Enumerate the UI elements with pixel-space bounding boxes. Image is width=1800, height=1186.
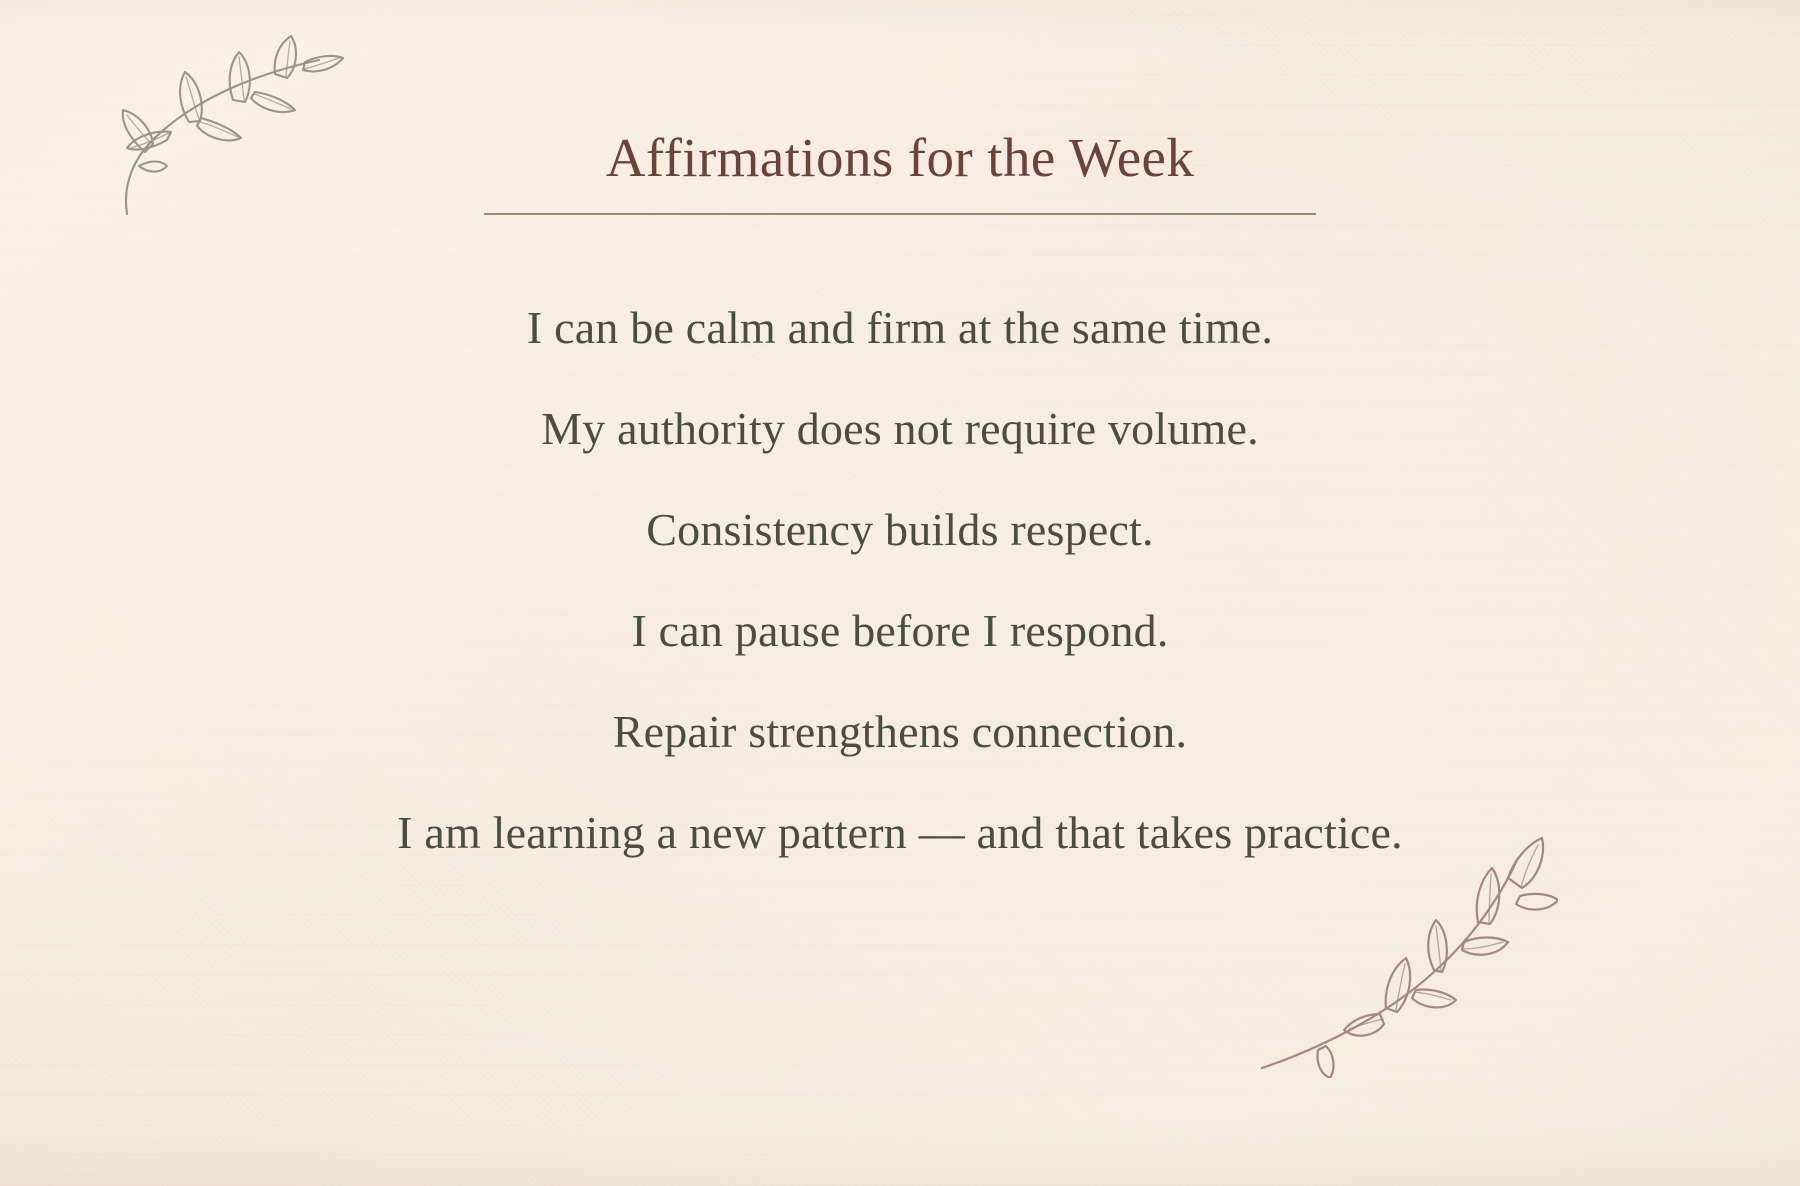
- affirmation-item: Repair strengthens connection.: [0, 709, 1800, 755]
- title-divider: [484, 213, 1316, 215]
- affirmation-item: I can pause before I respond.: [0, 608, 1800, 654]
- header: Affirmations for the Week: [0, 128, 1800, 215]
- affirmations-list: I can be calm and firm at the same time.…: [0, 305, 1800, 856]
- affirmation-item: I am learning a new pattern — and that t…: [0, 810, 1800, 856]
- affirmation-item: I can be calm and firm at the same time.: [0, 305, 1800, 351]
- affirmation-item: Consistency builds respect.: [0, 507, 1800, 553]
- affirmation-item: My authority does not require volume.: [0, 406, 1800, 452]
- affirmations-card: Affirmations for the Week I can be calm …: [0, 0, 1800, 1186]
- page-title: Affirmations for the Week: [0, 128, 1800, 189]
